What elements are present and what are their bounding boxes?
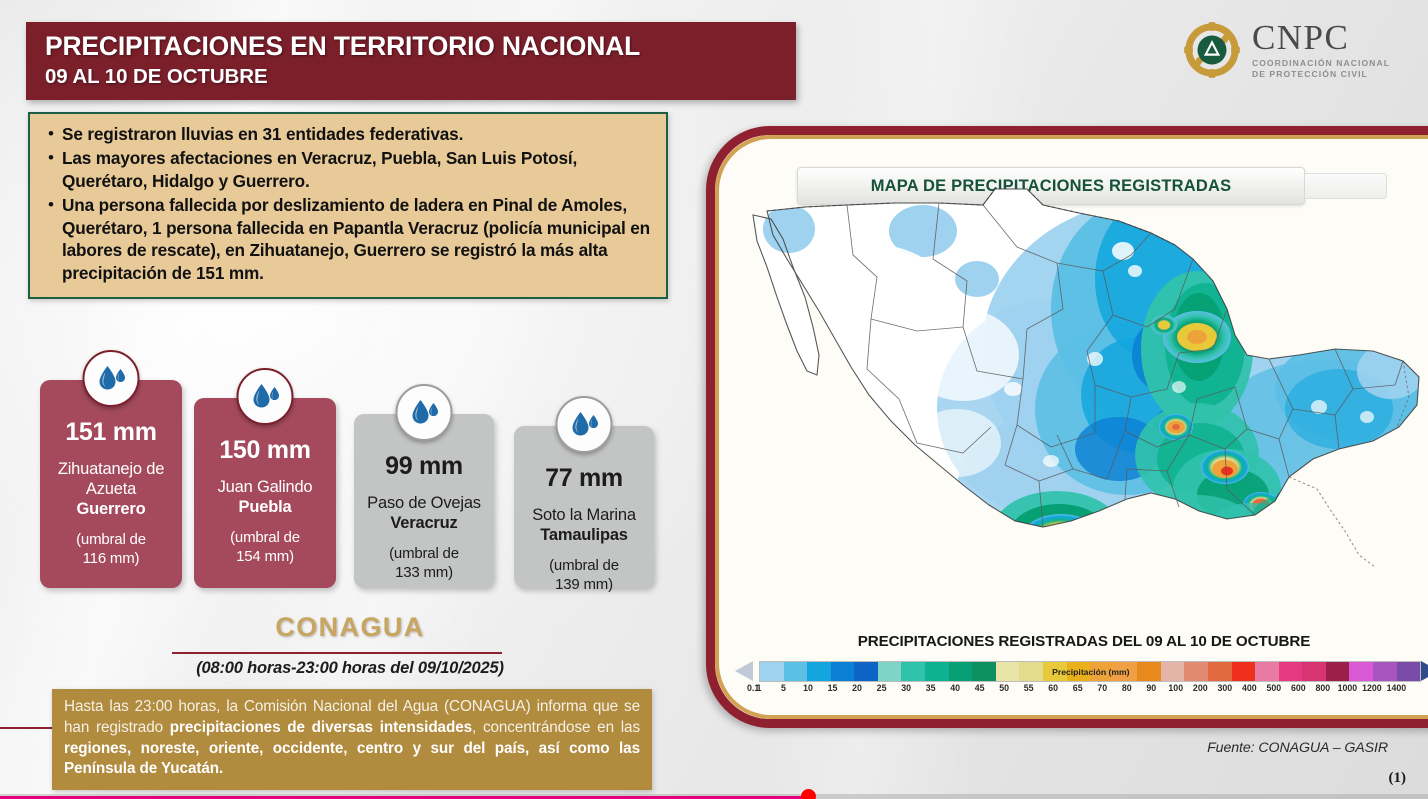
legend-tick-26: 1200 xyxy=(1360,683,1385,699)
legend-tick-14: 65 xyxy=(1065,683,1090,699)
conagua-note-bold2: regiones, noreste, oriente, occidente, c… xyxy=(64,740,640,778)
legend-swatch-26 xyxy=(1373,662,1397,681)
source-attribution: Fuente: CONAGUA – GASIR xyxy=(1207,740,1388,756)
left-accent-rule xyxy=(0,727,60,729)
list-item: • Una persona fallecida por deslizamient… xyxy=(40,194,652,286)
bullet-list-box: • Se registraron lluvias en 31 entidades… xyxy=(28,112,668,299)
legend-tick-3: 10 xyxy=(796,683,821,699)
legend-tick-12: 55 xyxy=(1016,683,1041,699)
card-threshold-line1: (umbral de xyxy=(514,557,654,576)
legend-tick-2: 5 xyxy=(771,683,796,699)
water-drop-icon xyxy=(556,396,613,453)
page-title: PRECIPITACIONES EN TERRITORIO NACIONAL xyxy=(45,31,796,62)
legend-swatch-7 xyxy=(925,662,949,681)
bullet-text: Se registraron lluvias en 31 entidades f… xyxy=(62,123,463,146)
card-threshold-line2: 116 mm) xyxy=(40,550,182,569)
precipitation-legend: Precipitación (mm) 0.1 15101520253035404… xyxy=(735,661,1428,705)
page-title-bar: PRECIPITACIONES EN TERRITORIO NACIONAL 0… xyxy=(26,22,796,100)
legend-swatch-14 xyxy=(1090,662,1114,681)
water-drop-icon xyxy=(237,368,294,425)
bullet-point-icon: • xyxy=(40,194,62,217)
card-value: 150 mm xyxy=(194,436,336,465)
legend-swatch-6 xyxy=(901,662,925,681)
legend-tick-13: 60 xyxy=(1041,683,1066,699)
legend-swatch-15 xyxy=(1114,662,1138,681)
legend-swatch-13 xyxy=(1067,662,1091,681)
water-drop-icon xyxy=(83,350,140,407)
card-threshold-line1: (umbral de xyxy=(354,545,494,564)
legend-tick-15: 70 xyxy=(1090,683,1115,699)
card-place: Zihuatanejo de Azueta xyxy=(40,459,182,499)
card-state: Guerrero xyxy=(40,499,182,519)
bullet-text: Las mayores afectaciones en Veracruz, Pu… xyxy=(62,147,652,193)
map-panel: MAPA DE PRECIPITACIONES REGISTRADAS xyxy=(706,126,1428,728)
video-progress-knob[interactable] xyxy=(801,789,816,799)
legend-tick-22: 500 xyxy=(1262,683,1287,699)
legend-tick-18: 100 xyxy=(1164,683,1189,699)
card-state: Puebla xyxy=(194,497,336,517)
legend-tick-11: 50 xyxy=(992,683,1017,699)
legend-tick-7: 30 xyxy=(894,683,919,699)
list-item: • Las mayores afectaciones en Veracruz, … xyxy=(40,147,652,193)
cnpc-shield-triangle-icon xyxy=(1183,21,1241,79)
legend-swatch-22 xyxy=(1279,662,1303,681)
page-subtitle: 09 AL 10 DE OCTUBRE xyxy=(45,64,796,90)
legend-swatch-23 xyxy=(1302,662,1326,681)
logo-text-block: CNPC COORDINACIÓN NACIONAL DE PROTECCIÓN… xyxy=(1252,20,1390,81)
legend-swatch-21 xyxy=(1255,662,1279,681)
map-caption: PRECIPITACIONES REGISTRADAS DEL 09 AL 10… xyxy=(759,633,1409,650)
legend-swatch-5 xyxy=(878,662,902,681)
legend-swatch-19 xyxy=(1208,662,1232,681)
legend-swatch-3 xyxy=(831,662,855,681)
legend-tick-24: 800 xyxy=(1311,683,1336,699)
card-place: Juan Galindo xyxy=(194,477,336,497)
legend-tick-20: 300 xyxy=(1213,683,1238,699)
legend-left-arrow-icon xyxy=(735,661,753,681)
legend-swatch-9 xyxy=(972,662,996,681)
legend-swatch-18 xyxy=(1184,662,1208,681)
water-drop-icon xyxy=(396,384,453,441)
legend-tick-6: 25 xyxy=(869,683,894,699)
legend-tick-9: 40 xyxy=(943,683,968,699)
list-item: • Se registraron lluvias en 31 entidades… xyxy=(40,123,652,146)
legend-swatch-12 xyxy=(1043,662,1067,681)
card-threshold-line2: 154 mm) xyxy=(194,548,336,567)
legend-tick-1: 1 xyxy=(747,683,772,699)
conagua-time-range: (08:00 horas-23:00 horas del 09/10/2025) xyxy=(150,659,550,678)
precipitation-card-2: 99 mm Paso de Ovejas Veracruz (umbral de… xyxy=(354,414,494,588)
card-threshold-line2: 133 mm) xyxy=(354,564,494,583)
precipitation-heatmap xyxy=(727,159,1428,659)
legend-swatch-11 xyxy=(1019,662,1043,681)
precipitation-cards: 151 mm Zihuatanejo de Azueta Guerrero (u… xyxy=(36,348,676,598)
bullet-point-icon: • xyxy=(40,123,62,146)
legend-tick-5: 20 xyxy=(845,683,870,699)
logo-subtitle-line1: COORDINACIÓN NACIONAL xyxy=(1252,58,1390,69)
precipitation-card-0: 151 mm Zihuatanejo de Azueta Guerrero (u… xyxy=(40,380,182,588)
legend-tick-23: 600 xyxy=(1286,683,1311,699)
map-panel-inner: MAPA DE PRECIPITACIONES REGISTRADAS xyxy=(715,135,1428,719)
legend-swatch-8 xyxy=(949,662,973,681)
legend-swatch-10 xyxy=(996,662,1020,681)
conagua-divider xyxy=(172,652,502,654)
conagua-note-box: Hasta las 23:00 horas, la Comisión Nacio… xyxy=(52,689,652,790)
legend-swatch-1 xyxy=(784,662,808,681)
legend-swatch-20 xyxy=(1232,662,1256,681)
legend-tick-19: 200 xyxy=(1188,683,1213,699)
card-state: Tamaulipas xyxy=(514,525,654,545)
legend-swatch-0 xyxy=(760,662,784,681)
legend-swatch-4 xyxy=(854,662,878,681)
logo-acronym: CNPC xyxy=(1252,20,1390,55)
card-place: Paso de Ovejas xyxy=(354,493,494,513)
legend-swatch-24 xyxy=(1326,662,1350,681)
precipitation-card-3: 77 mm Soto la Marina Tamaulipas (umbral … xyxy=(514,426,654,588)
precipitation-card-1: 150 mm Juan Galindo Puebla (umbral de 15… xyxy=(194,398,336,588)
card-threshold-line1: (umbral de xyxy=(194,529,336,548)
legend-tick-21: 400 xyxy=(1237,683,1262,699)
legend-swatch-16 xyxy=(1137,662,1161,681)
legend-swatch-25 xyxy=(1349,662,1373,681)
page-number: (1) xyxy=(1389,770,1407,787)
card-value: 77 mm xyxy=(514,464,654,493)
card-value: 151 mm xyxy=(40,418,182,447)
conagua-note-bold1: precipitaciones de diversas intensidades xyxy=(170,719,472,736)
conagua-note-part2: , concentrándose en las xyxy=(472,719,640,736)
legend-tick-17: 90 xyxy=(1139,683,1164,699)
cnpc-logo: CNPC COORDINACIÓN NACIONAL DE PROTECCIÓN… xyxy=(1183,20,1390,81)
bullet-point-icon: • xyxy=(40,147,62,170)
legend-swatch-17 xyxy=(1161,662,1185,681)
legend-color-bar xyxy=(759,661,1421,682)
card-state: Veracruz xyxy=(354,513,494,533)
card-threshold-line1: (umbral de xyxy=(40,531,182,550)
legend-swatch-27 xyxy=(1397,662,1421,681)
logo-subtitle-line2: DE PROTECCIÓN CIVIL xyxy=(1252,69,1390,80)
legend-tick-labels: 1510152025303540455055606570809010020030… xyxy=(759,683,1421,699)
legend-tick-4: 15 xyxy=(820,683,845,699)
card-place: Soto la Marina xyxy=(514,505,654,525)
card-value: 99 mm xyxy=(354,452,494,481)
legend-tick-25: 1000 xyxy=(1335,683,1360,699)
legend-tick-16: 80 xyxy=(1114,683,1139,699)
legend-tick-27: 1400 xyxy=(1384,683,1409,699)
video-progress-bar[interactable] xyxy=(0,794,1428,799)
legend-right-arrow-icon xyxy=(1421,661,1428,681)
card-threshold-line2: 139 mm) xyxy=(514,576,654,595)
legend-swatch-2 xyxy=(807,662,831,681)
legend-tick-8: 35 xyxy=(918,683,943,699)
conagua-title: CONAGUA xyxy=(150,612,550,643)
legend-tick-10: 45 xyxy=(967,683,992,699)
bullet-text: Una persona fallecida por deslizamiento … xyxy=(62,194,652,286)
